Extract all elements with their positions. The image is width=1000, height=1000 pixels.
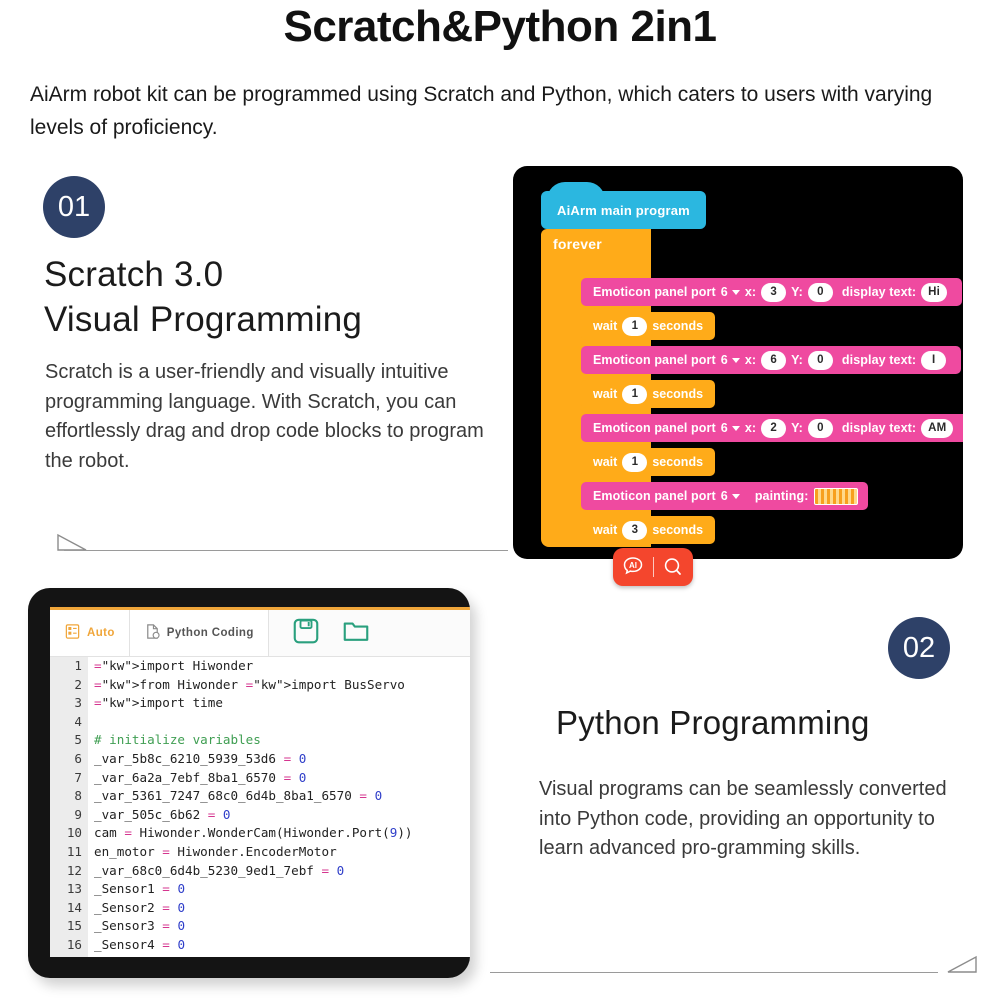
code-line: 8_var_5361_7247_68c0_6d4b_8ba1_6570 = 0 xyxy=(50,787,470,806)
port-dropdown[interactable]: 6 xyxy=(721,353,740,367)
line-number: 16 xyxy=(50,936,82,955)
rule-line xyxy=(64,550,508,551)
scratch-block-wait[interactable]: wait 1 seconds xyxy=(581,448,715,476)
seconds-label: seconds xyxy=(652,523,703,537)
scratch-block-emoticon-text[interactable]: Emoticon panel port 6 x: 3 Y: 0 display … xyxy=(581,278,962,306)
text-label: display text: xyxy=(842,421,916,435)
x-value-input[interactable]: 2 xyxy=(761,419,786,438)
decorative-rule-left xyxy=(28,533,508,555)
line-number: 2 xyxy=(50,676,82,695)
wait-label: wait xyxy=(593,387,617,401)
scratch-hat-label: AiArm main program xyxy=(557,203,690,218)
text-value-input[interactable]: AM xyxy=(921,419,953,438)
scratch-block-emoticon-text[interactable]: Emoticon panel port 6 x: 6 Y: 0 display … xyxy=(581,346,961,374)
rule-line xyxy=(490,972,938,973)
code-line: 15_Sensor3 = 0 xyxy=(50,917,470,936)
x-label: x: xyxy=(745,421,756,435)
tab-python-coding-label: Python Coding xyxy=(167,627,254,639)
port-value: 6 xyxy=(721,421,728,435)
chevron-down-icon xyxy=(732,494,740,499)
code-lines-container: 1="kw">import Hiwonder2="kw">from Hiwond… xyxy=(50,657,470,957)
line-number: 13 xyxy=(50,880,82,899)
seconds-label: seconds xyxy=(652,387,703,401)
line-number: 12 xyxy=(50,862,82,881)
wait-value-input[interactable]: 1 xyxy=(622,317,647,336)
text-value-input[interactable]: Hi xyxy=(921,283,947,302)
document-code-icon xyxy=(144,623,161,643)
code-line: 17_var_68c0_6d4b_5230_5468_7631 = 0 xyxy=(50,955,470,958)
block-label: Emoticon panel port xyxy=(593,285,716,299)
code-line: 10cam = Hiwonder.WonderCam(Hiwonder.Port… xyxy=(50,824,470,843)
code-line: 12_var_68c0_6d4b_5230_9ed1_7ebf = 0 xyxy=(50,862,470,881)
line-number: 9 xyxy=(50,806,82,825)
triangle-arrow-icon xyxy=(946,955,978,977)
line-number: 15 xyxy=(50,917,82,936)
line-number: 11 xyxy=(50,843,82,862)
x-label: x: xyxy=(745,285,756,299)
line-number: 14 xyxy=(50,899,82,918)
scratch-block-wait[interactable]: wait 3 seconds xyxy=(581,516,715,544)
section-1-heading: Scratch 3.0 Visual Programming xyxy=(44,252,474,342)
wait-label: wait xyxy=(593,523,617,537)
save-icon[interactable] xyxy=(291,616,321,651)
text-label: display text: xyxy=(842,353,916,367)
tab-auto[interactable]: Auto xyxy=(50,610,130,656)
search-icon[interactable] xyxy=(654,555,693,579)
decorative-rule-right xyxy=(490,955,978,977)
code-line: 4 xyxy=(50,713,470,732)
painting-label: painting: xyxy=(755,489,809,503)
y-value-input[interactable]: 0 xyxy=(808,283,833,302)
section-2-heading: Python Programming xyxy=(556,700,986,745)
x-value-input[interactable]: 6 xyxy=(761,351,786,370)
wait-value-input[interactable]: 3 xyxy=(622,521,647,540)
scratch-block-emoticon-paint[interactable]: Emoticon panel port 6 painting: xyxy=(581,482,868,510)
ai-bubble-icon[interactable]: AI xyxy=(614,555,653,579)
tab-auto-label: Auto xyxy=(87,627,115,639)
tablet-device: Auto Python Coding xyxy=(28,588,470,978)
seconds-label: seconds xyxy=(652,319,703,333)
code-line: 11en_motor = Hiwonder.EncoderMotor xyxy=(50,843,470,862)
scratch-block-emoticon-text[interactable]: Emoticon panel port 6 x: 2 Y: 0 display … xyxy=(581,414,963,442)
triangle-arrow-icon xyxy=(56,533,88,555)
line-number: 7 xyxy=(50,769,82,788)
x-value-input[interactable]: 3 xyxy=(761,283,786,302)
line-number: 10 xyxy=(50,824,82,843)
section-1-heading-line2: Visual Programming xyxy=(44,300,362,339)
folder-open-icon[interactable] xyxy=(341,616,371,651)
port-dropdown[interactable]: 6 xyxy=(721,421,740,435)
y-value-input[interactable]: 0 xyxy=(808,419,833,438)
text-value-input[interactable]: I xyxy=(921,351,946,370)
section-1-heading-line1: Scratch 3.0 xyxy=(44,255,223,294)
code-line: 13_Sensor1 = 0 xyxy=(50,880,470,899)
port-value: 6 xyxy=(721,353,728,367)
code-line: 16_Sensor4 = 0 xyxy=(50,936,470,955)
section-1-body: Scratch is a user-friendly and visually … xyxy=(45,358,485,476)
page-subtitle: AiArm robot kit can be programmed using … xyxy=(30,78,975,144)
code-editor[interactable]: 1="kw">import Hiwonder2="kw">from Hiwond… xyxy=(50,657,470,957)
code-line: 14_Sensor2 = 0 xyxy=(50,899,470,918)
line-number: 17 xyxy=(50,955,82,958)
code-line: 2="kw">from Hiwonder ="kw">import BusSer… xyxy=(50,676,470,695)
led-matrix-preview[interactable] xyxy=(814,488,858,505)
section-badge-02: 02 xyxy=(888,617,950,679)
page-title: Scratch&Python 2in1 xyxy=(0,2,1000,52)
port-value: 6 xyxy=(721,285,728,299)
line-number: 1 xyxy=(50,657,82,676)
section-2-body: Visual programs can be seamlessly conver… xyxy=(539,775,964,864)
scratch-block-wait[interactable]: wait 1 seconds xyxy=(581,312,715,340)
editor-tool-icons xyxy=(269,610,371,656)
block-label: Emoticon panel port xyxy=(593,421,716,435)
code-line: 3="kw">import time xyxy=(50,694,470,713)
scratch-forever-label: forever xyxy=(553,236,602,252)
section-badge-01: 01 xyxy=(43,176,105,238)
ai-search-pill[interactable]: AI xyxy=(613,548,693,586)
port-dropdown[interactable]: 6 xyxy=(721,285,740,299)
blocks-icon xyxy=(64,623,81,643)
port-dropdown[interactable]: 6 xyxy=(721,489,740,503)
code-line: 1="kw">import Hiwonder xyxy=(50,657,470,676)
svg-text:AI: AI xyxy=(629,561,637,570)
block-label: Emoticon panel port xyxy=(593,489,716,503)
line-number: 6 xyxy=(50,750,82,769)
wait-label: wait xyxy=(593,455,617,469)
line-number: 5 xyxy=(50,731,82,750)
seconds-label: seconds xyxy=(652,455,703,469)
block-label: Emoticon panel port xyxy=(593,353,716,367)
page-root: Scratch&Python 2in1 AiArm robot kit can … xyxy=(0,0,1000,1000)
scratch-hat-block[interactable]: AiArm main program xyxy=(541,191,706,229)
scratch-blocks-panel: AiArm main program forever Emoticon pane… xyxy=(513,166,963,559)
port-value: 6 xyxy=(721,489,728,503)
text-label: display text: xyxy=(842,285,916,299)
line-number: 4 xyxy=(50,713,82,732)
editor-toolbar: Auto Python Coding xyxy=(50,610,470,657)
editor-screen: Auto Python Coding xyxy=(50,607,470,957)
chevron-down-icon xyxy=(732,358,740,363)
tab-python-coding[interactable]: Python Coding xyxy=(130,610,269,656)
y-label: Y: xyxy=(791,285,803,299)
y-value-input[interactable]: 0 xyxy=(808,351,833,370)
wait-value-input[interactable]: 1 xyxy=(622,385,647,404)
x-label: x: xyxy=(745,353,756,367)
y-label: Y: xyxy=(791,353,803,367)
chevron-down-icon xyxy=(732,426,740,431)
code-line: 5# initialize variables xyxy=(50,731,470,750)
line-number: 3 xyxy=(50,694,82,713)
wait-value-input[interactable]: 1 xyxy=(622,453,647,472)
code-line: 9_var_505c_6b62 = 0 xyxy=(50,806,470,825)
code-line: 7_var_6a2a_7ebf_8ba1_6570 = 0 xyxy=(50,769,470,788)
scratch-block-wait[interactable]: wait 1 seconds xyxy=(581,380,715,408)
line-number: 8 xyxy=(50,787,82,806)
code-line: 6_var_5b8c_6210_5939_53d6 = 0 xyxy=(50,750,470,769)
y-label: Y: xyxy=(791,421,803,435)
wait-label: wait xyxy=(593,319,617,333)
chevron-down-icon xyxy=(732,290,740,295)
